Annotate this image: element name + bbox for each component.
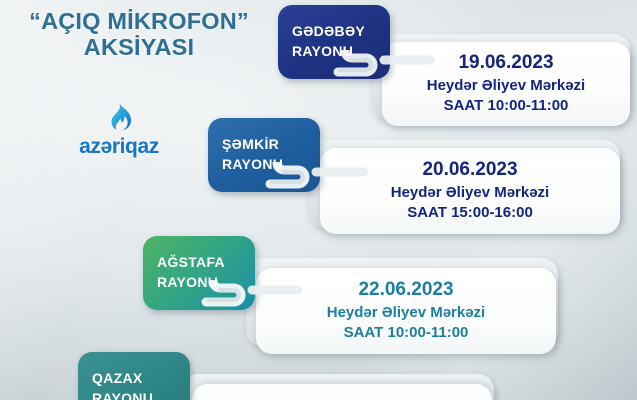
district-tab-gedebey[interactable]: GƏDƏBƏY RAYONU [278,5,390,79]
district-name-line1-3: AĞSTAFA [157,253,243,273]
event-date-1: 19.06.2023 [458,52,553,75]
event-date-2: 20.06.2023 [422,159,517,182]
title-line-2: AKSİYASI [0,34,278,60]
event-date-3: 22.06.2023 [358,279,453,302]
event-time-1: SAAT 10:00-11:00 [444,97,569,116]
district-tab-agstafa[interactable]: AĞSTAFA RAYONU [143,236,255,310]
flame-icon [106,103,132,133]
brand-name: azəriqaz [50,135,188,159]
district-name-line2-3: RAYONU [157,273,243,293]
title-line-1: “AÇIQ MİKROFON” [0,8,278,34]
info-card-1: 19.06.2023 Heydər Əliyev Mərkəzi SAAT 10… [382,42,630,126]
district-name-line1-2: ŞƏMKİR [222,135,308,155]
district-name-line2-2: RAYONU [222,155,308,175]
brand-logo: azəriqaz [50,103,188,159]
event-time-2: SAAT 15:00-16:00 [407,204,533,223]
district-tab-qazax[interactable]: QAZAX RAYONU [78,352,190,400]
info-card-2: 20.06.2023 Heydər Əliyev Mərkəzi SAAT 15… [320,148,620,234]
page-title: “AÇIQ MİKROFON” AKSİYASI [0,8,278,61]
info-card-3: 22.06.2023 Heydər Əliyev Mərkəzi SAAT 10… [256,268,556,354]
district-name-line1-4: QAZAX [92,369,178,389]
event-time-3: SAAT 10:00-11:00 [344,324,469,343]
event-venue-3: Heydər Əliyev Mərkəzi [327,304,485,323]
poster-canvas: “AÇIQ MİKROFON” AKSİYASI azəriqaz 19.06.… [0,0,637,400]
district-name-line2-4: RAYONU [92,389,178,400]
district-tab-semkir[interactable]: ŞƏMKİR RAYONU [208,118,320,192]
event-venue-2: Heydər Əliyev Mərkəzi [391,184,549,203]
district-name-line2-1: RAYONU [292,42,378,62]
event-venue-1: Heydər Əliyev Mərkəzi [427,77,585,96]
district-name-line1-1: GƏDƏBƏY [292,22,378,42]
info-card-4 [192,384,492,400]
